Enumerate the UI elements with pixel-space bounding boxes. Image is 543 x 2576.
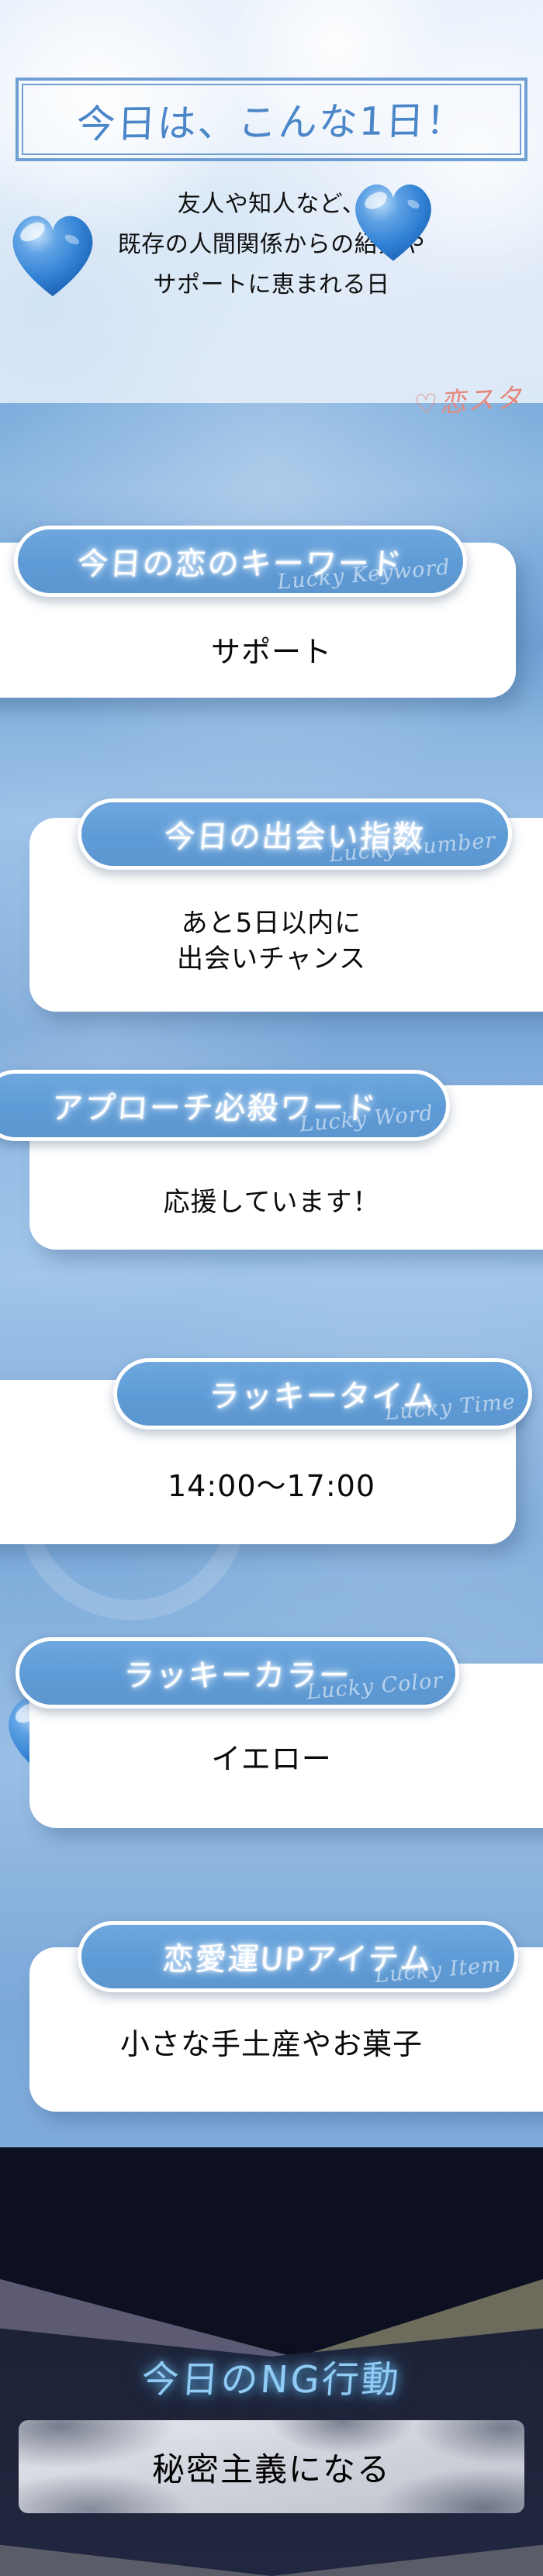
card-lucky-item-value: 小さな手土産やお菓子 <box>0 2026 543 2062</box>
page-title-box: 今日は、こんな1日！ <box>16 78 527 161</box>
badge-keyword[interactable]: 今日の恋のキーワード Lucky Keyword <box>14 526 467 597</box>
badge-approach[interactable]: アプローチ必殺ワード Lucky Word <box>0 1070 450 1141</box>
badge-encounter-label: 今日の出会い指数 <box>163 812 427 857</box>
badge-lucky-color[interactable]: ラッキーカラー Lucky Color <box>16 1637 459 1709</box>
badge-encounter[interactable]: 今日の出会い指数 Lucky Number <box>78 798 512 870</box>
card-approach-value: 応援しています！ <box>0 1185 543 1220</box>
badge-lucky-color-label: ラッキーカラー <box>122 1650 353 1695</box>
card-encounter-value: あと5日以内に 出会いチャンス <box>0 905 543 977</box>
badge-lucky-time-label: ラッキータイム <box>207 1371 438 1416</box>
card-lucky-time-value: 14:00〜17:00 <box>0 1468 543 1504</box>
heart-balloon-icon <box>348 177 439 264</box>
badge-lucky-item-label: 恋愛運UPアイテム <box>161 1934 434 1979</box>
badge-approach-label: アプローチ必殺ワード <box>50 1083 379 1128</box>
fortune-page: 今日は、こんな1日！ 友人や知人など、 既存の人間関係からの紹介や サポートに恵… <box>0 0 543 2576</box>
badge-keyword-label: 今日の恋のキーワード <box>76 539 405 584</box>
card-encounter-value-line-1: あと5日以内に <box>0 905 543 941</box>
ng-section-title: 今日のNG行動 <box>0 2349 543 2403</box>
page-title-inner-border: 今日は、こんな1日！ <box>22 84 521 155</box>
ng-value-box[interactable]: 秘密主義になる <box>19 2420 524 2513</box>
page-title: 今日は、こんな1日！ <box>75 89 467 149</box>
brand-logo: ♡恋スタ <box>413 376 524 422</box>
badge-lucky-time[interactable]: ラッキータイム Lucky Time <box>113 1358 532 1429</box>
ng-value: 秘密主義になる <box>152 2443 391 2491</box>
badge-lucky-item[interactable]: 恋愛運UPアイテム Lucky Item <box>78 1921 518 1992</box>
heart-balloon-icon <box>5 208 101 299</box>
card-keyword-value: サポート <box>0 634 543 670</box>
card-encounter-value-line-2: 出会いチャンス <box>0 941 543 977</box>
card-lucky-color-value: イエロー <box>0 1741 543 1777</box>
